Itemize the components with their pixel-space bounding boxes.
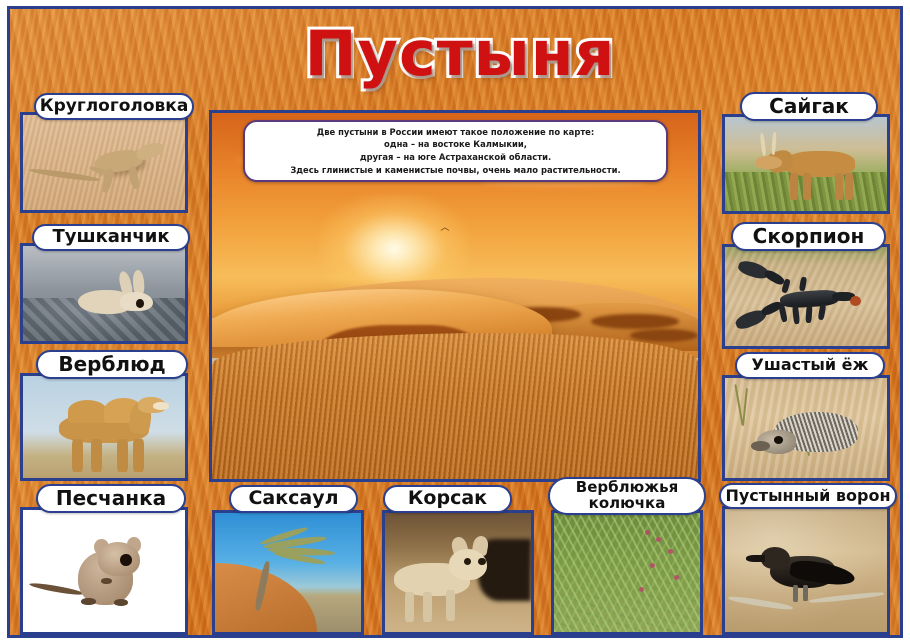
label-saksaul: Саксаул: [229, 485, 358, 513]
info-text-box: Две пустыни в России имеют такое положен…: [243, 120, 668, 182]
label-text: Песчанка: [56, 488, 166, 509]
label-text: Верблюд: [58, 354, 165, 375]
label-peschanka: Песчанка: [36, 484, 186, 513]
hedgehog-photo: [725, 378, 887, 478]
photo-card-camel-thorn: [551, 510, 703, 635]
scorpion-photo: [725, 247, 887, 346]
camel-photo: [23, 376, 185, 478]
label-text: Ушастый ёж: [752, 357, 869, 374]
label-korsak: Корсак: [383, 485, 512, 513]
desert-poster: Пустыня ︿ Две пустыни в России имеют так…: [0, 0, 910, 644]
saxaul-photo: [215, 513, 361, 632]
gerbil-photo: [23, 510, 185, 632]
label-verblyuzhya-kolyuchka: Верблюжья колючка: [548, 477, 706, 515]
photo-card-gerbil: [20, 507, 188, 635]
jerboa-photo: [23, 246, 185, 341]
label-text: Корсак: [408, 489, 487, 509]
label-text: Сайгак: [769, 96, 849, 117]
corsac-fox-photo: [385, 513, 531, 632]
bird-silhouette: ︿: [440, 223, 452, 229]
lizard-photo: [23, 115, 185, 210]
label-pustynniy-voron: Пустынный ворон: [719, 483, 897, 509]
label-text: Тушканчик: [52, 228, 169, 247]
camel-thorn-photo: [554, 513, 700, 632]
photo-card-saiga: [722, 114, 890, 214]
photo-card-saxaul: [212, 510, 364, 635]
photo-card-camel: [20, 373, 188, 481]
label-ushastiy-yozh: Ушастый ёж: [735, 352, 885, 379]
label-krugogolovka: Круглоголовка: [34, 93, 194, 120]
label-text: Пустынный ворон: [725, 488, 890, 505]
label-verblyud: Верблюд: [36, 350, 188, 379]
label-saygak: Сайгак: [740, 92, 878, 121]
photo-card-scorpion: [722, 244, 890, 349]
poster-title: Пустыня: [243, 16, 677, 92]
label-skorpion: Скорпион: [731, 222, 886, 251]
poster-title-text: Пустыня: [305, 23, 616, 85]
photo-card-jerboa: [20, 243, 188, 344]
photo-card-lizard: [20, 112, 188, 213]
label-tushkanchik: Тушканчик: [32, 224, 190, 251]
photo-card-hedgehog: [722, 375, 890, 481]
raven-photo: [725, 509, 887, 632]
label-text: Саксаул: [248, 489, 338, 509]
label-text: Верблюжья колючка: [556, 480, 698, 512]
photo-card-corsac: [382, 510, 534, 635]
saiga-photo: [725, 117, 887, 211]
label-text: Скорпион: [753, 226, 865, 247]
info-text: Две пустыни в России имеют такое положен…: [290, 126, 620, 176]
photo-card-raven: [722, 506, 890, 635]
label-text: Круглоголовка: [40, 98, 189, 116]
